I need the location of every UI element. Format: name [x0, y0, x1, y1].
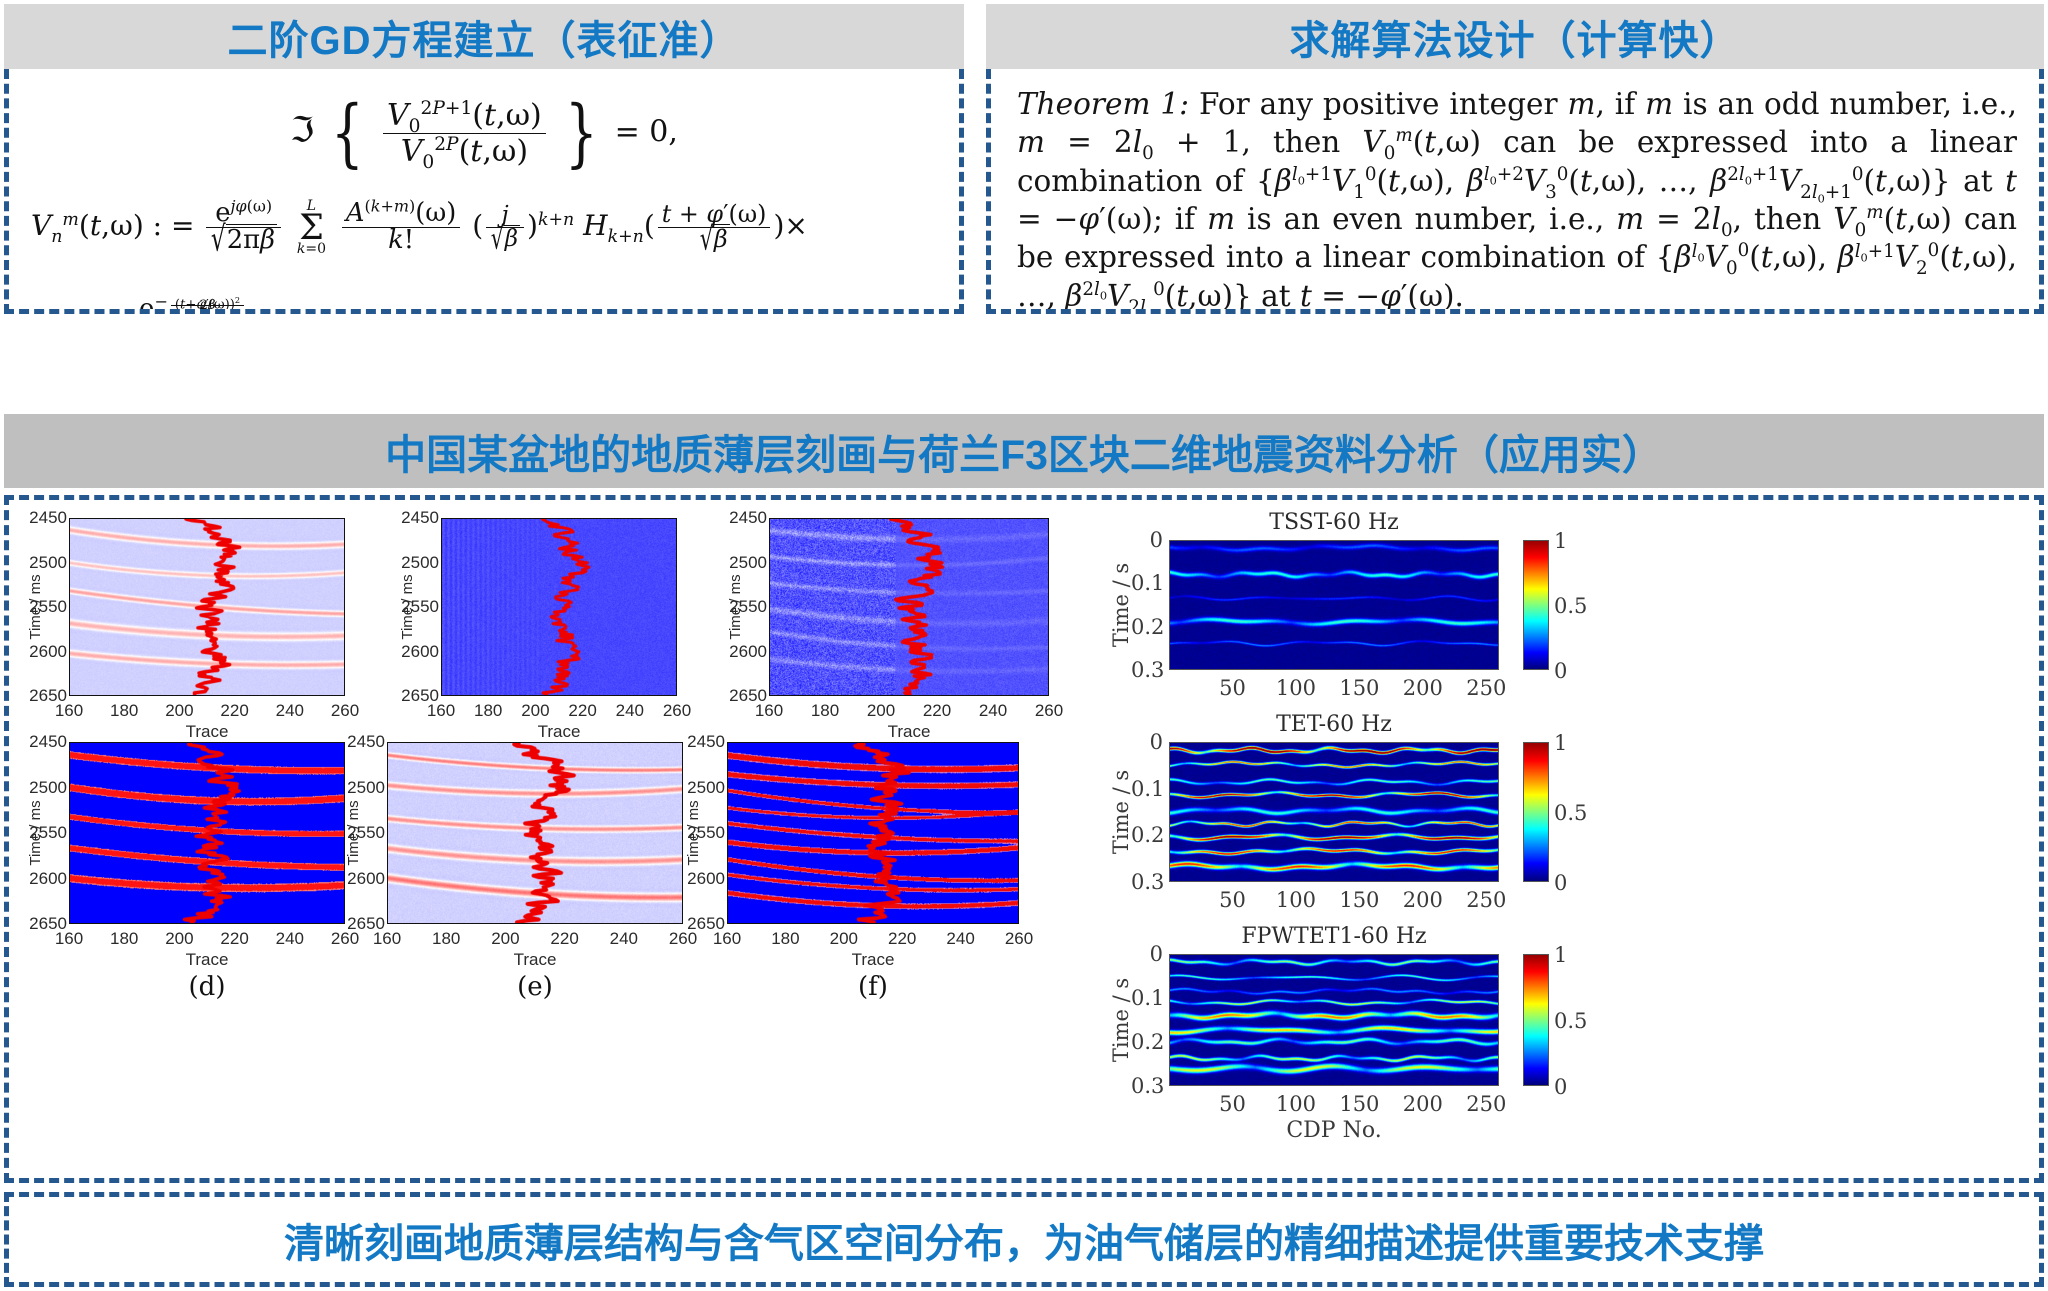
- y-tick-label: 2550: [729, 597, 767, 617]
- x-tick-label: 220: [923, 701, 951, 721]
- x-tick-label: 150: [1339, 888, 1379, 912]
- x-tick-label: 160: [55, 701, 83, 721]
- colorbar: 00.51: [1523, 540, 1549, 670]
- seismic-image: [69, 742, 345, 924]
- equation-vnm-definition: Vnm(t,ω) : = ejφ(ω) √2πβ LΣk=0 A(k+m)(ω)…: [31, 199, 949, 256]
- theorem-label: Theorem 1:: [1017, 87, 1189, 121]
- x-tick-label: 220: [220, 701, 248, 721]
- x-tick-label: 240: [610, 929, 638, 949]
- x-tick-label: 50: [1219, 888, 1246, 912]
- colorbar: 00.51: [1523, 742, 1549, 882]
- x-tick-label: 180: [771, 929, 799, 949]
- x-tick-label: 160: [427, 701, 455, 721]
- x-tick-label: 200: [867, 701, 895, 721]
- x-tick-label: 180: [432, 929, 460, 949]
- y-tick-label: 2500: [29, 778, 67, 798]
- conclusion-text: 清晰刻画地质薄层结构与含气区空间分布，为油气储层的精细描述提供重要技术支撑: [284, 1211, 1764, 1269]
- x-axis-label: Trace: [441, 722, 677, 742]
- equation-vnm-exponential-tail: e−(t+φ′(ω))22β,: [139, 294, 255, 314]
- x-tick-label: 160: [55, 929, 83, 949]
- x-axis-label: Trace: [769, 722, 1049, 742]
- equation-gd-ratio: ℑ { V02P+1(t,ω) V02P(t,ω) } = 0,: [9, 91, 959, 176]
- x-tick-label: 200: [1403, 676, 1443, 700]
- y-tick-label: 0.3: [1131, 1074, 1163, 1098]
- y-tick-label: 0.1: [1131, 777, 1163, 801]
- colorbar-tick-label: 1: [1554, 943, 1567, 967]
- x-axis-ticks: 160180200220240260: [69, 701, 345, 723]
- x-axis-ticks: 160180200220240260: [769, 701, 1049, 723]
- y-tick-label: 2450: [687, 732, 725, 752]
- x-tick-label: 200: [491, 929, 519, 949]
- section-title: 中国某盆地的地质薄层刻画与荷兰F3区块二维地震资料分析（应用实）: [385, 421, 1663, 481]
- y-tick-label: 2600: [29, 869, 67, 889]
- panel-right-header: 求解算法设计（计算快）: [986, 4, 2044, 69]
- x-tick-label: 220: [220, 929, 248, 949]
- y-tick-label: 0.2: [1131, 1030, 1163, 1054]
- panel-right-body: Theorem 1: For any positive integer m, i…: [986, 69, 2044, 314]
- x-tick-label: 240: [616, 701, 644, 721]
- y-tick-label: 2450: [29, 508, 67, 528]
- y-tick-label: 2500: [729, 553, 767, 573]
- x-tick-label: 100: [1276, 888, 1316, 912]
- y-tick-label: 0.3: [1131, 658, 1163, 682]
- x-axis-ticks: 160180200220240260: [387, 929, 683, 951]
- y-tick-label: 2500: [401, 553, 439, 573]
- seismic-image: [387, 742, 683, 924]
- y-tick-label: 0.3: [1131, 870, 1163, 894]
- x-tick-label: 180: [110, 701, 138, 721]
- x-tick-label: 220: [568, 701, 596, 721]
- seismic-subplot-b: Time / ms2450250025502600265016018020022…: [389, 518, 681, 774]
- colorbar: 00.51: [1523, 954, 1549, 1086]
- x-tick-label: 240: [946, 929, 974, 949]
- spectral-canvas: [1170, 743, 1498, 881]
- x-tick-label: 50: [1219, 1092, 1246, 1116]
- seismic-canvas: [442, 519, 676, 695]
- y-axis-label: Time / s: [1109, 563, 1133, 647]
- x-tick-label: 220: [550, 929, 578, 949]
- y-axis-label: Time / s: [1109, 978, 1133, 1062]
- colorbar-canvas: [1524, 541, 1548, 669]
- seismic-canvas: [70, 743, 344, 923]
- y-tick-label: 2600: [401, 642, 439, 662]
- x-tick-label: 260: [1035, 701, 1063, 721]
- x-axis-ticks: 160180200220240260: [727, 929, 1019, 951]
- spectral-image: [1169, 742, 1499, 882]
- y-tick-label: 2550: [29, 823, 67, 843]
- x-tick-label: 180: [474, 701, 502, 721]
- x-axis-label: Trace: [387, 950, 683, 970]
- x-tick-label: 200: [165, 701, 193, 721]
- subplot-title: TSST-60 Hz: [1169, 510, 1499, 535]
- seismic-canvas: [388, 743, 682, 923]
- colorbar-tick-label: 0.5: [1554, 1009, 1587, 1033]
- y-tick-label: 2550: [401, 597, 439, 617]
- colorbar-tick-label: 1: [1554, 731, 1567, 755]
- x-axis-label: Trace: [69, 950, 345, 970]
- colorbar-tick-label: 0: [1554, 659, 1567, 683]
- colorbar-tick-label: 0.5: [1554, 801, 1587, 825]
- y-axis-ticks: 24502500255026002650: [675, 742, 725, 924]
- spectral-image: [1169, 540, 1499, 670]
- seismic-subplot-f: Time / ms2450250025502600265016018020022…: [675, 742, 1023, 1002]
- colorbar-tick-label: 0: [1554, 1075, 1567, 1099]
- panel-solver-algorithm: 求解算法设计（计算快） Theorem 1: For any positive …: [986, 4, 2044, 314]
- x-tick-label: 160: [373, 929, 401, 949]
- y-tick-label: 2600: [687, 869, 725, 889]
- y-tick-label: 0: [1131, 942, 1163, 966]
- y-tick-label: 2450: [347, 732, 385, 752]
- conclusion-band: 清晰刻画地质薄层结构与含气区空间分布，为油气储层的精细描述提供重要技术支撑: [4, 1192, 2044, 1287]
- panel-right-title: 求解算法设计（计算快）: [1290, 8, 1741, 66]
- y-tick-label: 2600: [729, 642, 767, 662]
- x-tick-label: 100: [1276, 1092, 1316, 1116]
- subplot-caption: (d): [69, 972, 345, 1002]
- y-tick-label: 0.1: [1131, 986, 1163, 1010]
- x-tick-label: 200: [1403, 888, 1443, 912]
- x-tick-label: 240: [276, 929, 304, 949]
- y-axis-label: Time / s: [1109, 770, 1133, 854]
- y-tick-label: 2500: [347, 778, 385, 798]
- spectral-image: [1169, 954, 1499, 1086]
- x-tick-label: 240: [979, 701, 1007, 721]
- colorbar-tick-label: 0.5: [1554, 594, 1587, 618]
- x-tick-label: 250: [1466, 1092, 1506, 1116]
- panel-second-order-gd: 二阶GD方程建立（表征准） ℑ { V02P+1(t,ω) V02P(t,ω) …: [4, 4, 964, 314]
- seismic-image: [441, 518, 677, 696]
- seismic-image: [69, 518, 345, 696]
- y-tick-label: 2550: [29, 597, 67, 617]
- slide-root: 二阶GD方程建立（表征准） ℑ { V02P+1(t,ω) V02P(t,ω) …: [0, 0, 2048, 1291]
- spectral-canvas: [1170, 541, 1498, 669]
- x-tick-label: 260: [663, 701, 691, 721]
- figure-area: Time / ms2450250025502600265016018020022…: [4, 495, 2044, 1183]
- seismic-canvas: [70, 519, 344, 695]
- seismic-subplot-d: Time / ms2450250025502600265016018020022…: [17, 742, 349, 1002]
- x-tick-label: 150: [1339, 1092, 1379, 1116]
- y-axis-ticks: 24502500255026002650: [17, 742, 67, 924]
- y-tick-label: 2500: [29, 553, 67, 573]
- y-tick-label: 2450: [729, 508, 767, 528]
- subplot-title: FPWTET1-60 Hz: [1169, 924, 1499, 949]
- y-tick-label: 2500: [687, 778, 725, 798]
- theorem-text: Theorem 1: For any positive integer m, i…: [1017, 85, 2017, 314]
- x-tick-label: 180: [110, 929, 138, 949]
- seismic-image: [727, 742, 1019, 924]
- subplot-caption: (f): [727, 972, 1019, 1002]
- panel-left-body: ℑ { V02P+1(t,ω) V02P(t,ω) } = 0, Vnm(t,ω…: [4, 69, 964, 314]
- y-axis-ticks: 24502500255026002650: [717, 518, 767, 696]
- x-tick-label: 150: [1339, 676, 1379, 700]
- y-tick-label: 2450: [401, 508, 439, 528]
- spectral-subplot-tet: TET-60 HzTime / s00.10.20.35010015020025…: [1109, 712, 1619, 942]
- subplot-caption: (e): [387, 972, 683, 1002]
- y-tick-label: 2600: [29, 642, 67, 662]
- x-tick-label: 160: [755, 701, 783, 721]
- x-axis-label: Trace: [69, 722, 345, 742]
- x-tick-label: 50: [1219, 676, 1246, 700]
- colorbar-tick-label: 0: [1554, 871, 1567, 895]
- seismic-subplot-e: Time / ms2450250025502600265016018020022…: [335, 742, 687, 1002]
- seismic-canvas: [728, 743, 1018, 923]
- y-tick-label: 2550: [347, 823, 385, 843]
- spectral-canvas: [1170, 955, 1498, 1085]
- subplot-title: TET-60 Hz: [1169, 712, 1499, 737]
- x-tick-label: 250: [1466, 676, 1506, 700]
- colorbar-canvas: [1524, 743, 1548, 881]
- seismic-canvas: [770, 519, 1048, 695]
- colorbar-canvas: [1524, 955, 1548, 1085]
- panel-left-title: 二阶GD方程建立（表征准）: [228, 8, 741, 66]
- y-tick-label: 0: [1131, 730, 1163, 754]
- y-axis-ticks: 24502500255026002650: [17, 518, 67, 696]
- y-axis-ticks: 24502500255026002650: [389, 518, 439, 696]
- x-tick-label: 200: [830, 929, 858, 949]
- colorbar-tick-label: 1: [1554, 529, 1567, 553]
- x-axis-label: Trace: [727, 950, 1019, 970]
- x-tick-label: 240: [276, 701, 304, 721]
- section-title-band: 中国某盆地的地质薄层刻画与荷兰F3区块二维地震资料分析（应用实）: [4, 414, 2044, 488]
- spectral-subplot-fpwtet1: FPWTET1-60 HzTime / s00.10.20.3501001502…: [1109, 924, 1619, 1146]
- spectral-subplot-tsst: TSST-60 HzTime / s00.10.20.3501001502002…: [1109, 510, 1619, 730]
- x-tick-label: 200: [521, 701, 549, 721]
- seismic-image: [769, 518, 1049, 696]
- x-tick-label: 160: [713, 929, 741, 949]
- x-tick-label: 260: [331, 701, 359, 721]
- seismic-subplot-c: Time / ms2450250025502600265016018020022…: [717, 518, 1053, 774]
- y-tick-label: 0.2: [1131, 615, 1163, 639]
- y-tick-label: 2550: [687, 823, 725, 843]
- y-tick-label: 2600: [347, 869, 385, 889]
- x-tick-label: 200: [1403, 1092, 1443, 1116]
- y-tick-label: 0.2: [1131, 823, 1163, 847]
- x-tick-label: 200: [165, 929, 193, 949]
- x-tick-label: 180: [811, 701, 839, 721]
- y-tick-label: 2450: [29, 732, 67, 752]
- x-tick-label: 100: [1276, 676, 1316, 700]
- panel-left-header: 二阶GD方程建立（表征准）: [4, 4, 964, 69]
- x-tick-label: 250: [1466, 888, 1506, 912]
- y-tick-label: 0.1: [1131, 571, 1163, 595]
- x-axis-ticks: 160180200220240260: [441, 701, 677, 723]
- y-tick-label: 0: [1131, 528, 1163, 552]
- y-axis-ticks: 24502500255026002650: [335, 742, 385, 924]
- x-tick-label: 220: [888, 929, 916, 949]
- x-axis-ticks: 160180200220240260: [69, 929, 345, 951]
- x-axis-label: CDP No.: [1169, 1118, 1499, 1143]
- x-tick-label: 260: [1005, 929, 1033, 949]
